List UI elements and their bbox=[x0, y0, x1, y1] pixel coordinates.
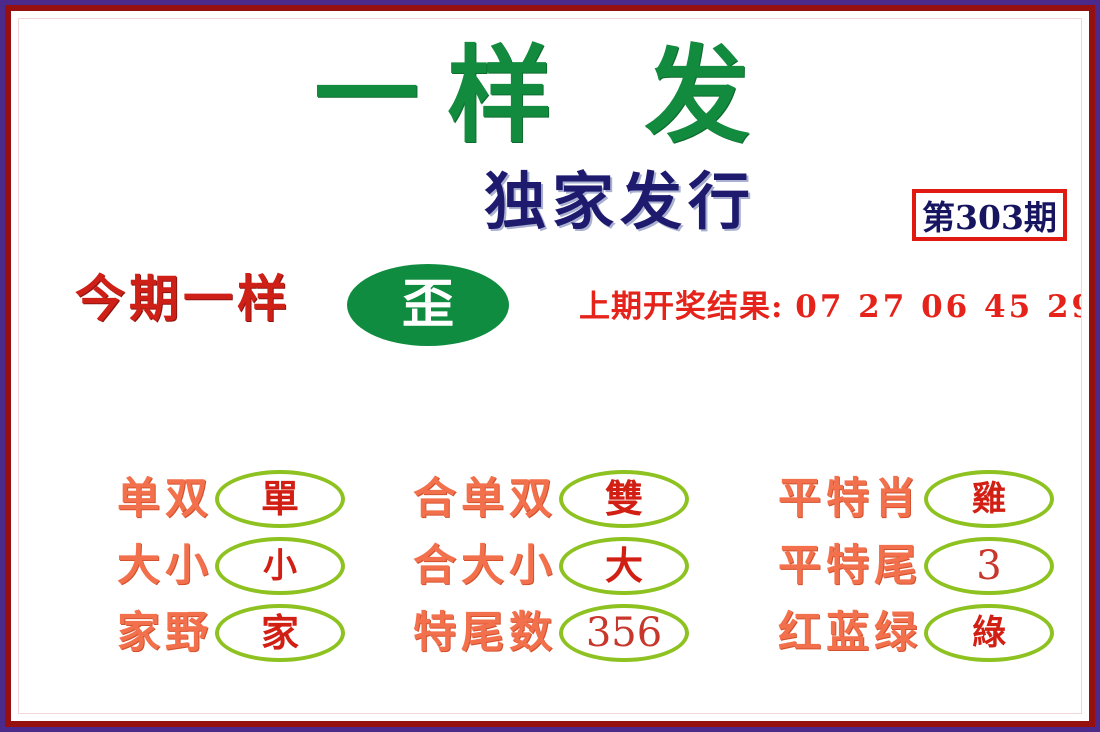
prediction-label: 单双 bbox=[117, 475, 213, 523]
last-draw-numbers: 07 27 06 45 29 42+22 bbox=[795, 289, 1081, 325]
prediction-value: 單 bbox=[261, 479, 299, 519]
prediction-value-oval: 綠 bbox=[924, 604, 1054, 662]
last-draw-result: 上期开奖结果: 07 27 06 45 29 42+22 bbox=[579, 281, 1081, 326]
prediction-label: 家野 bbox=[117, 609, 213, 657]
prediction-value: 家 bbox=[261, 613, 299, 653]
prediction-value-oval: 大 bbox=[559, 537, 689, 595]
last-draw-label: 上期开奖结果: bbox=[579, 289, 783, 325]
prediction-label: 大小 bbox=[117, 542, 213, 590]
page-title: 一样 发 bbox=[314, 41, 778, 151]
prediction-value-oval: 小 bbox=[215, 537, 345, 595]
today-value-oval: 歪 bbox=[347, 264, 509, 346]
prediction-row: 家野 家 bbox=[55, 598, 345, 668]
prediction-row: 大小 小 bbox=[55, 531, 345, 601]
prediction-row: 特尾数 356 bbox=[359, 598, 689, 668]
prediction-value: 雙 bbox=[605, 479, 643, 519]
prediction-grid: 单双 單 大小 小 家野 家 bbox=[19, 464, 1081, 679]
prediction-value: 356 bbox=[586, 613, 662, 653]
prediction-value-oval: 3 bbox=[924, 537, 1054, 595]
prediction-value: 3 bbox=[976, 546, 1001, 586]
prediction-label: 平特肖 bbox=[778, 475, 922, 523]
prediction-value: 雞 bbox=[972, 479, 1006, 519]
today-value-text: 歪 bbox=[402, 279, 454, 331]
prediction-value: 小 bbox=[263, 546, 297, 586]
prediction-label: 合单双 bbox=[413, 475, 557, 523]
prediction-value: 綠 bbox=[972, 613, 1006, 653]
prediction-value-oval: 家 bbox=[215, 604, 345, 662]
today-label: 今期一样 bbox=[75, 271, 291, 327]
issue-badge: 第303期 bbox=[912, 189, 1067, 241]
prediction-column-2: 合单双 雙 合大小 大 特尾数 356 bbox=[359, 464, 689, 679]
prediction-row: 合大小 大 bbox=[359, 531, 689, 601]
prediction-label: 平特尾 bbox=[778, 542, 922, 590]
prediction-row: 平特尾 3 bbox=[719, 531, 1054, 601]
prediction-label: 合大小 bbox=[413, 542, 557, 590]
prediction-value-oval: 356 bbox=[559, 604, 689, 662]
prediction-label: 红蓝绿 bbox=[778, 609, 922, 657]
prediction-column-3: 平特肖 雞 平特尾 3 红蓝绿 綠 bbox=[719, 464, 1054, 679]
prediction-value-oval: 雙 bbox=[559, 470, 689, 528]
lottery-poster: 一样 发 独家发行 第303期 上期开奖结果: 07 27 06 45 29 4… bbox=[0, 0, 1100, 732]
prediction-row: 红蓝绿 綠 bbox=[719, 598, 1054, 668]
issue-number-text: 第303期 bbox=[922, 191, 1057, 239]
prediction-value-oval: 單 bbox=[215, 470, 345, 528]
prediction-value: 大 bbox=[605, 546, 643, 586]
subtitle: 独家发行 bbox=[484, 169, 756, 235]
poster-canvas: 一样 发 独家发行 第303期 上期开奖结果: 07 27 06 45 29 4… bbox=[19, 19, 1081, 713]
prediction-row: 单双 單 bbox=[55, 464, 345, 534]
prediction-row: 平特肖 雞 bbox=[719, 464, 1054, 534]
prediction-row: 合单双 雙 bbox=[359, 464, 689, 534]
prediction-value-oval: 雞 bbox=[924, 470, 1054, 528]
prediction-label: 特尾数 bbox=[413, 609, 557, 657]
prediction-column-1: 单双 單 大小 小 家野 家 bbox=[55, 464, 345, 679]
